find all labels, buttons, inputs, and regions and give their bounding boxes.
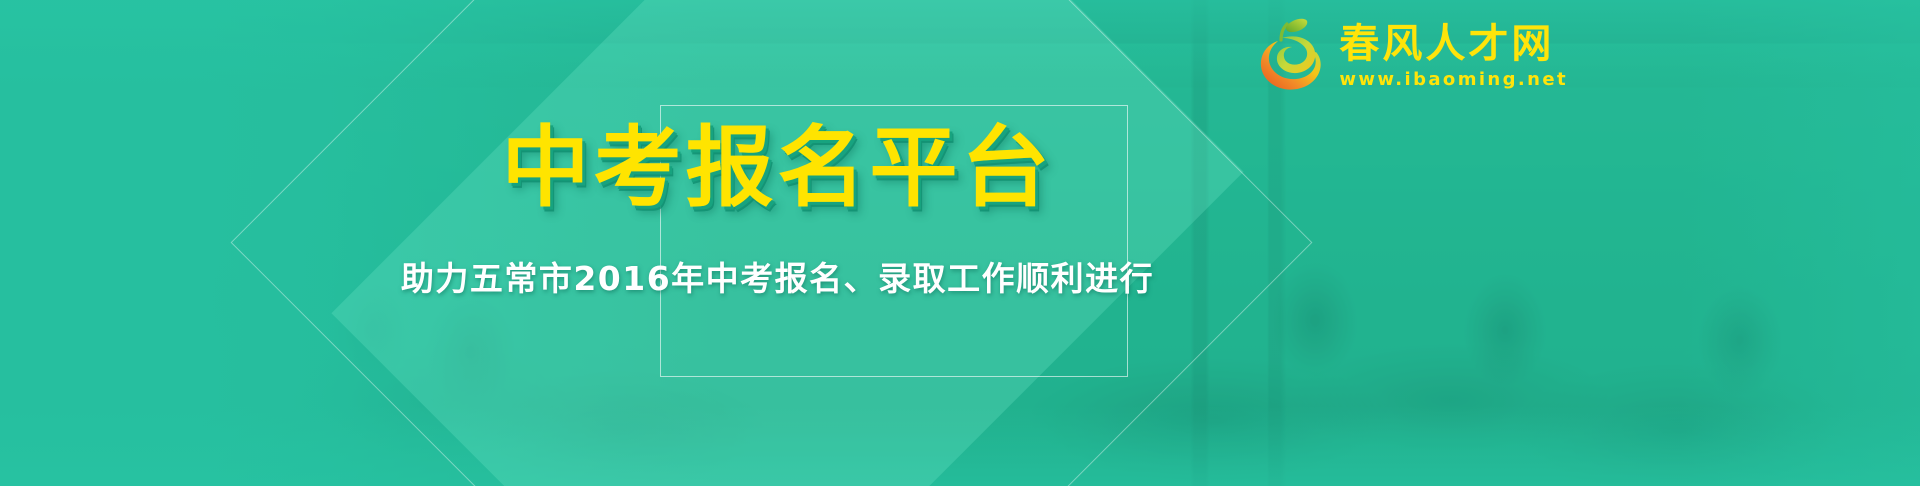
site-logo[interactable]: 春风人才网 www.ibaoming.net: [1259, 16, 1568, 94]
hero-banner: 中考报名平台 助力五常市2016年中考报名、录取工作顺利进行: [0, 0, 1920, 486]
logo-text-block: 春风人才网 www.ibaoming.net: [1339, 16, 1568, 89]
swoosh-sprout-logo-icon: [1259, 16, 1331, 94]
brand-name: 春风人才网: [1339, 24, 1568, 64]
brand-url: www.ibaoming.net: [1339, 71, 1568, 89]
rectangle-frame: [660, 105, 1128, 377]
